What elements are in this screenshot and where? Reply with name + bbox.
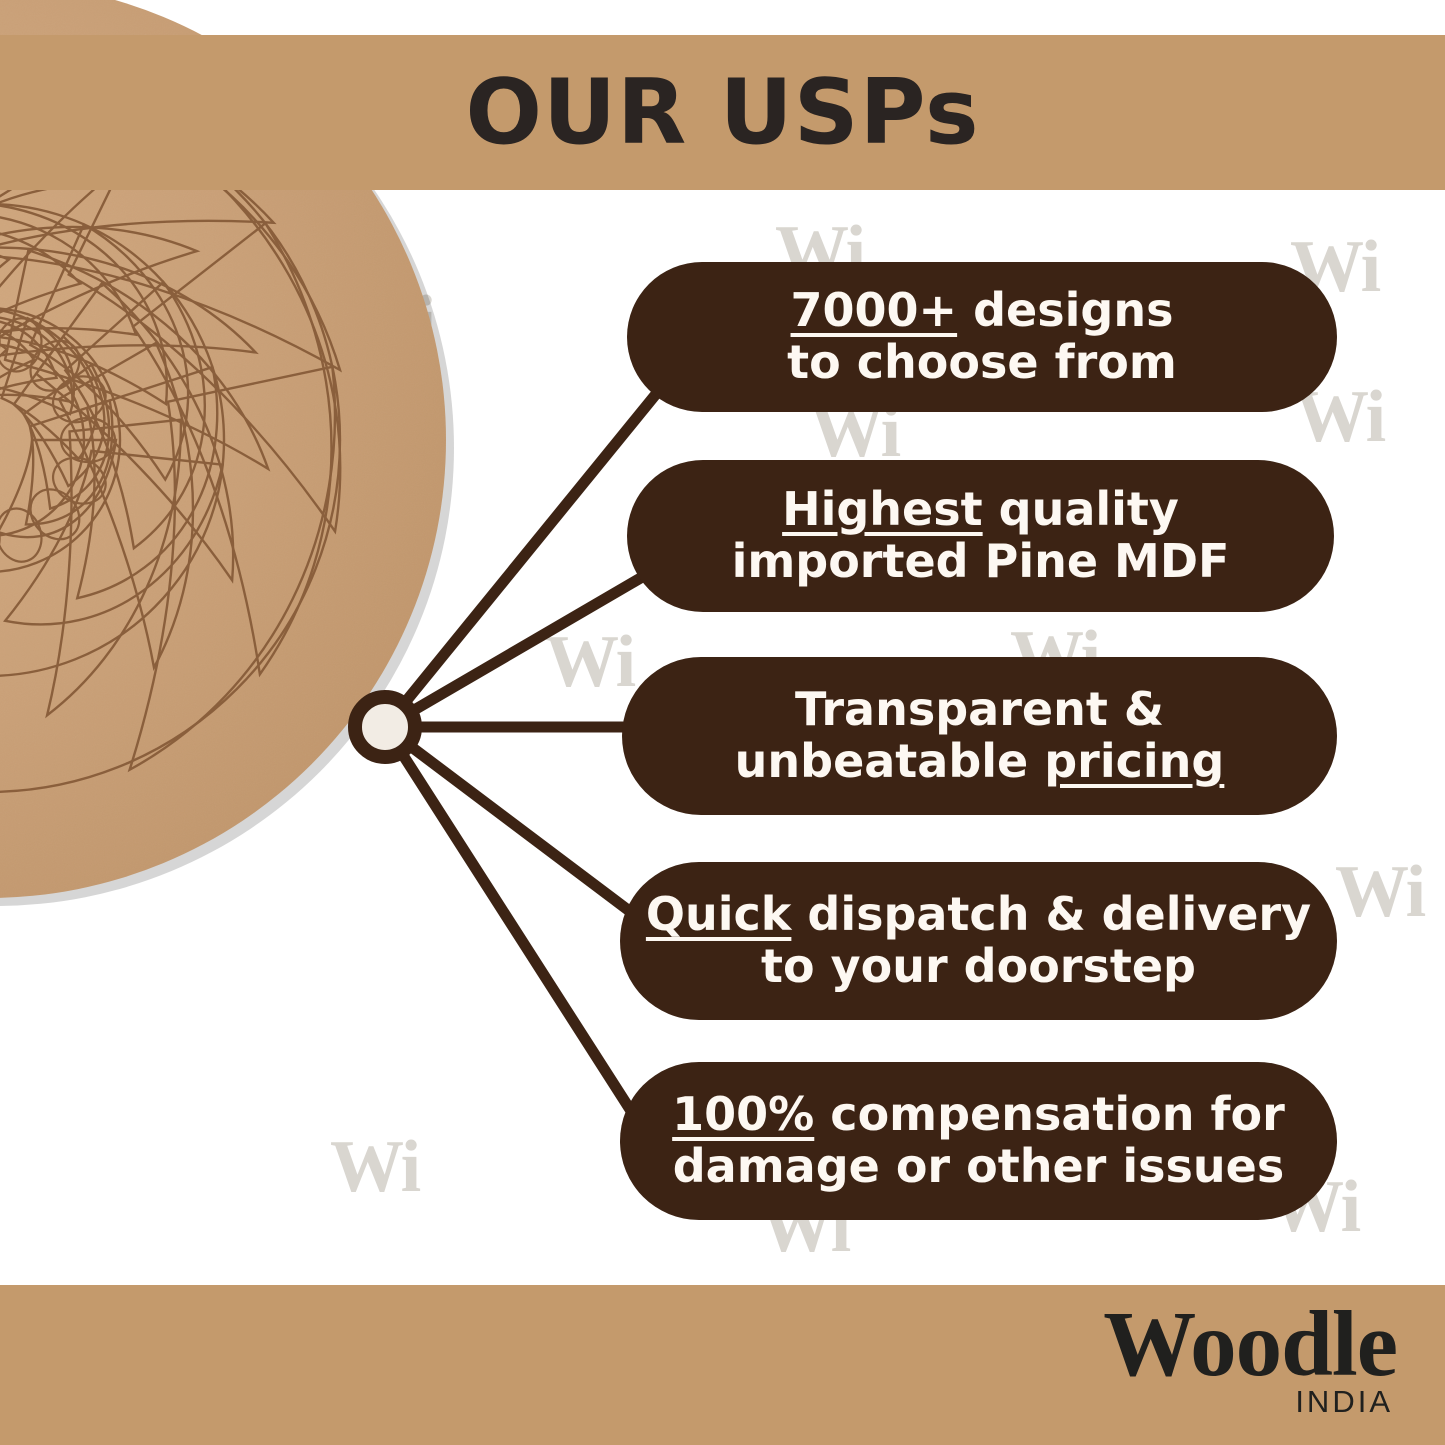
usp-pill-1[interactable]: 7000+ designs to choose from xyxy=(627,262,1337,412)
footer-band: Woodle INDIA xyxy=(0,1285,1445,1445)
usp-pill-5-emphasis: 100% xyxy=(672,1087,814,1141)
brand-logo: Woodle INDIA xyxy=(1103,1299,1397,1420)
usp-pill-4-emphasis: Quick xyxy=(646,887,791,941)
watermark-mark: Wi xyxy=(1335,855,1424,929)
header-band: OUR USPs xyxy=(0,35,1445,190)
usp-pill-2-line2: imported Pine MDF xyxy=(732,536,1230,588)
usp-pill-4-line2: to your doorstep xyxy=(761,941,1196,993)
usp-pill-1-line2: to choose from xyxy=(787,337,1177,389)
usp-pill-5-line2: damage or other issues xyxy=(673,1141,1284,1193)
usp-pill-2-emphasis: Highest xyxy=(782,482,983,536)
usp-pill-1-emphasis: 7000+ xyxy=(791,283,958,337)
usp-pill-2[interactable]: Highest quality imported Pine MDF xyxy=(627,460,1334,612)
usp-pill-5[interactable]: 100% compensation for damage or other is… xyxy=(620,1062,1337,1220)
usp-pill-4-line1: Quick dispatch & delivery xyxy=(646,889,1311,941)
usp-pill-3[interactable]: Transparent & unbeatable pricing xyxy=(622,657,1337,815)
brand-logo-word: Woodle xyxy=(1103,1299,1397,1390)
usp-pill-3-line2: unbeatable pricing xyxy=(735,736,1225,788)
infographic-canvas: Wi Wi Wi Wi Wi Wi Wi Wi Wi Wi Wi Wi Wi xyxy=(0,0,1445,1445)
hub-node xyxy=(348,690,422,764)
usp-pill-4[interactable]: Quick dispatch & delivery to your doorst… xyxy=(620,862,1337,1020)
watermark-mark: Wi xyxy=(330,1130,419,1204)
watermark-mark: Wi xyxy=(545,625,634,699)
usp-pill-5-line1: 100% compensation for xyxy=(672,1089,1285,1141)
page-title: OUR USPs xyxy=(465,68,979,158)
usp-pill-3-line1: Transparent & xyxy=(795,684,1164,736)
usp-pill-1-line1: 7000+ designs xyxy=(791,285,1174,337)
usp-pill-2-line1: Highest quality xyxy=(782,484,1179,536)
usp-pill-3-emphasis: pricing xyxy=(1044,734,1224,788)
